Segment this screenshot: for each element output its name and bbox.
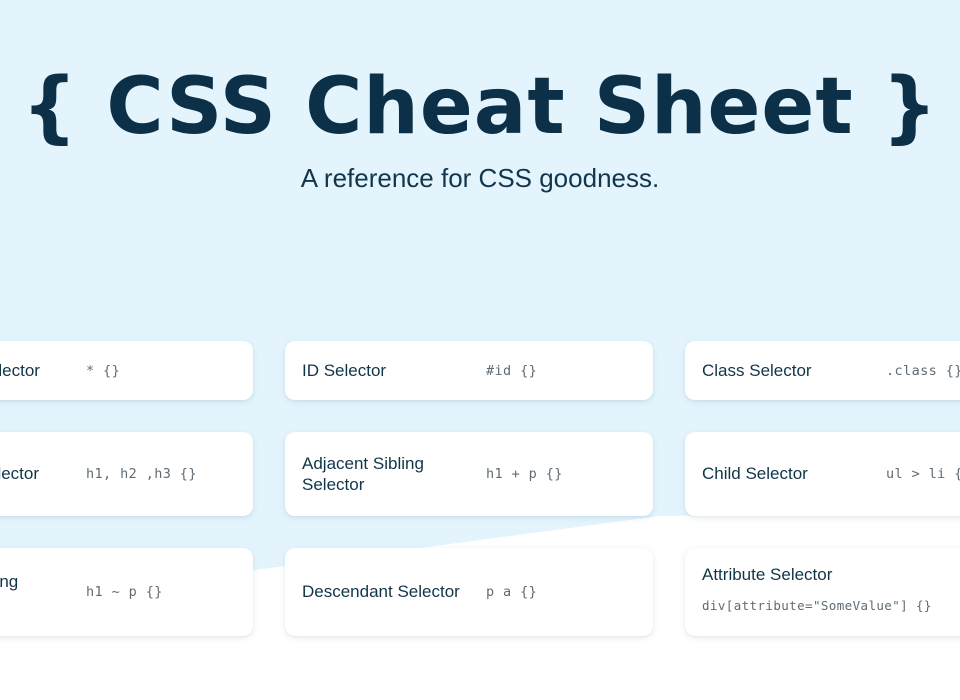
card-title: Attribute Selector [702, 564, 832, 585]
page-title: { CSS Cheat Sheet } [0, 66, 960, 149]
card-code: h1 + p {} [472, 466, 637, 482]
card-title: General Sibling Selector [0, 571, 72, 614]
card-child-selector[interactable]: Child Selector ul > li {} [685, 432, 960, 516]
card-id-selector[interactable]: ID Selector #id {} [285, 341, 653, 400]
card-class-selector[interactable]: Class Selector .class {} [685, 341, 960, 400]
card-code: p a {} [472, 584, 637, 600]
card-grouping-selector[interactable]: Grouping Selector h1, h2 ,h3 {} [0, 432, 253, 516]
card-title: ID Selector [302, 360, 472, 381]
card-code: * {} [72, 363, 237, 379]
card-title: Adjacent Sibling Selector [302, 453, 472, 496]
card-general-sibling-selector[interactable]: General Sibling Selector h1 ~ p {} [0, 548, 253, 636]
card-code: .class {} [872, 363, 960, 379]
card-title: Child Selector [702, 463, 872, 484]
card-code: ul > li {} [872, 466, 960, 482]
selector-card-grid: Universal Selector * {} ID Selector #id … [0, 341, 960, 636]
card-code: h1 ~ p {} [72, 584, 237, 600]
card-title: Grouping Selector [0, 463, 72, 484]
card-title: Descendant Selector [302, 581, 472, 602]
card-adjacent-sibling-selector[interactable]: Adjacent Sibling Selector h1 + p {} [285, 432, 653, 516]
card-code: div[attribute="SomeValue"] {} [702, 598, 932, 620]
card-code: #id {} [472, 363, 637, 379]
card-title: Class Selector [702, 360, 872, 381]
card-descendant-selector[interactable]: Descendant Selector p a {} [285, 548, 653, 636]
page-subtitle: A reference for CSS goodness. [0, 163, 960, 194]
page-root: { CSS Cheat Sheet } A reference for CSS … [0, 0, 960, 700]
card-code: h1, h2 ,h3 {} [72, 466, 237, 482]
page-header: { CSS Cheat Sheet } A reference for CSS … [0, 0, 960, 194]
card-attribute-selector[interactable]: Attribute Selector div[attribute="SomeVa… [685, 548, 960, 636]
card-universal-selector[interactable]: Universal Selector * {} [0, 341, 253, 400]
card-title: Universal Selector [0, 360, 72, 381]
